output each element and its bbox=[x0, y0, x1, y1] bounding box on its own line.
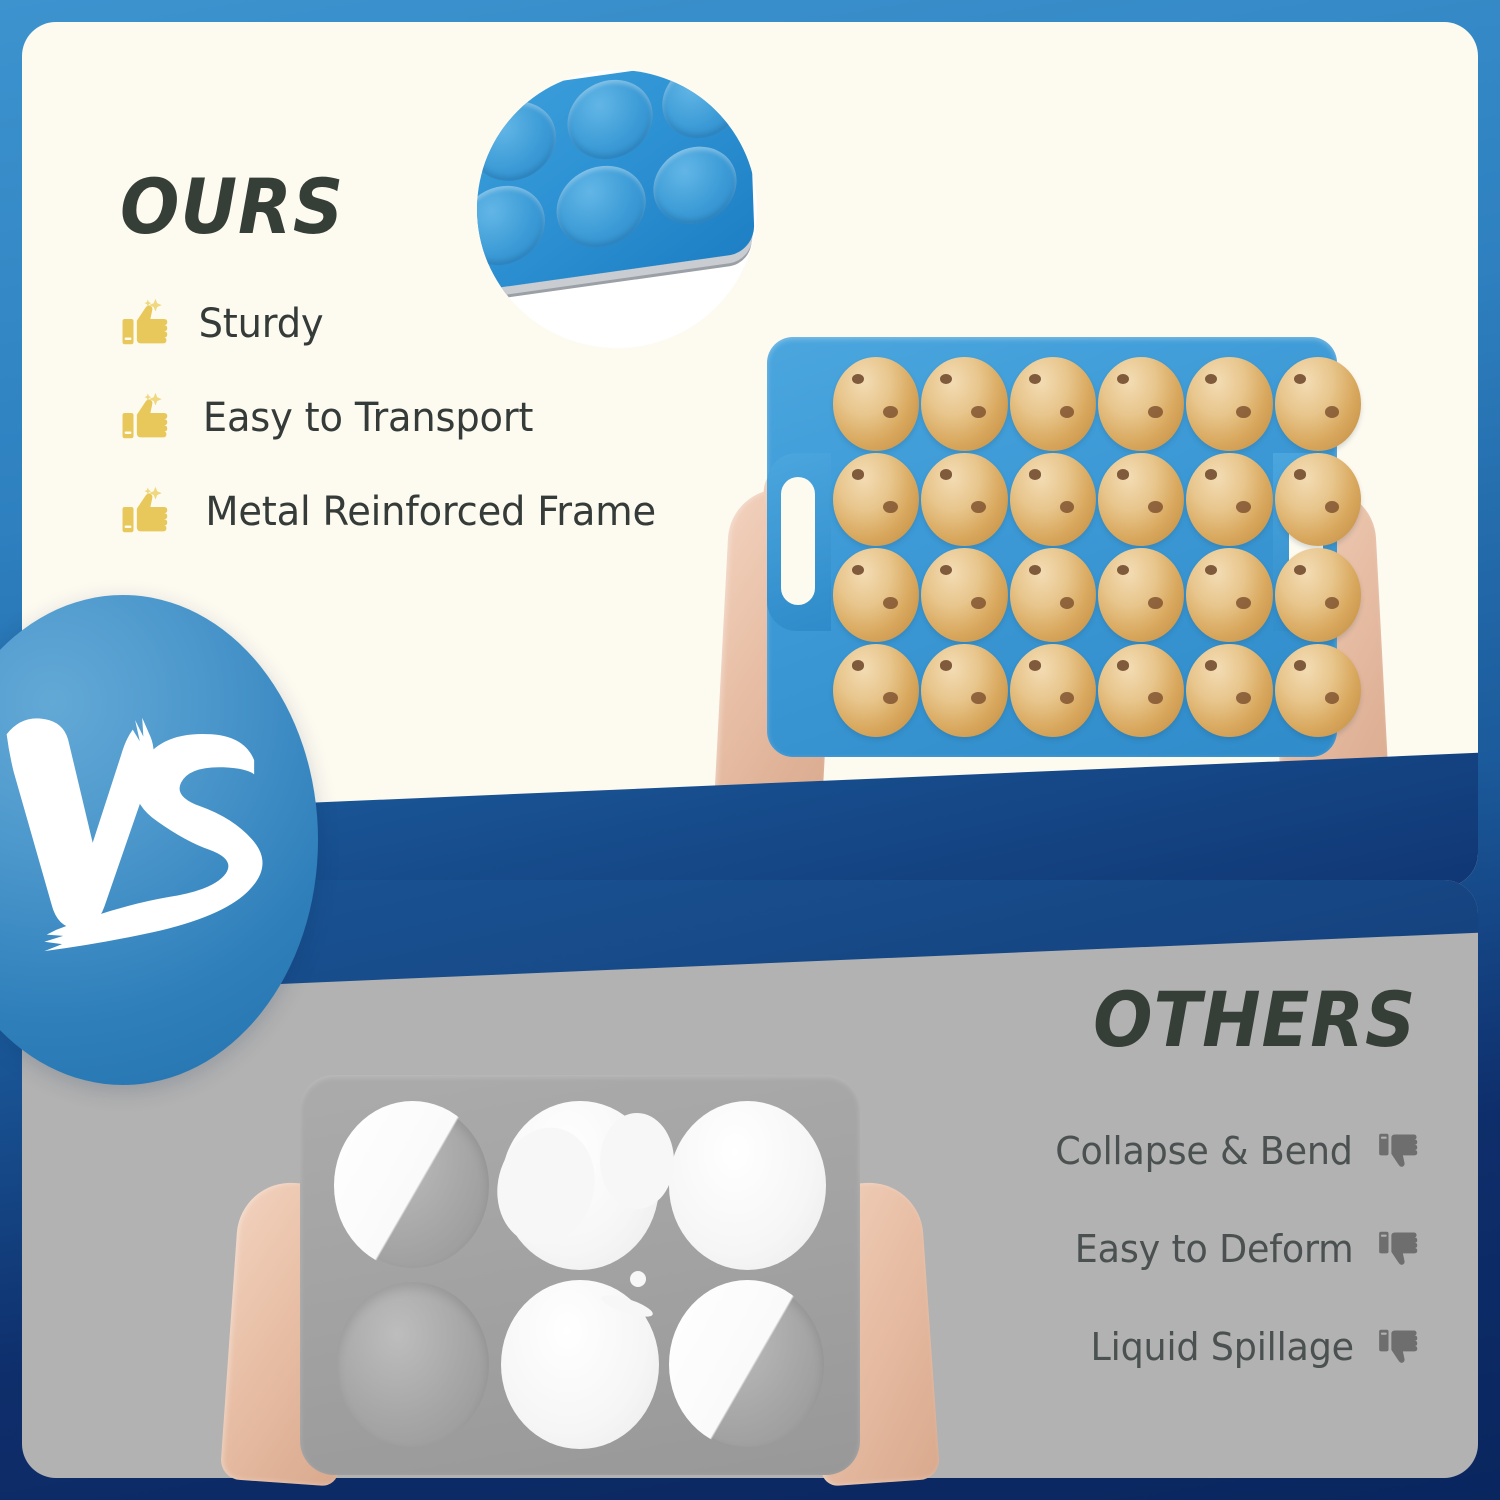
product-comparison-infographic: OURS Sturdy bbox=[0, 0, 1500, 1500]
pan-cup bbox=[671, 1103, 824, 1268]
ours-feature-item: Easy to Transport bbox=[120, 391, 540, 445]
others-feature-label: Collapse & Bend bbox=[1055, 1129, 1353, 1173]
thumbs-up-sparkle-icon bbox=[120, 297, 174, 351]
blue-muffin-pan-photo bbox=[722, 337, 1382, 807]
muffin bbox=[1186, 453, 1272, 547]
thumbs-up-sparkle-icon bbox=[120, 485, 174, 539]
others-feature-item: Collapse & Bend bbox=[1049, 1128, 1423, 1174]
muffin bbox=[1010, 453, 1096, 547]
muffin bbox=[1275, 644, 1361, 738]
muffin bbox=[921, 644, 1007, 738]
muffin bbox=[1098, 548, 1184, 642]
muffin bbox=[921, 548, 1007, 642]
muffin bbox=[833, 453, 919, 547]
batter-droplet bbox=[630, 1271, 646, 1287]
muffin bbox=[1098, 357, 1184, 451]
batter-spill bbox=[600, 1113, 674, 1209]
others-title: OTHERS bbox=[1093, 975, 1416, 1064]
muffin bbox=[921, 453, 1007, 547]
thumbs-down-icon bbox=[1377, 1324, 1423, 1370]
gray-muffin-pan-photo bbox=[230, 1075, 930, 1495]
ours-feature-item: Metal Reinforced Frame bbox=[120, 485, 665, 539]
inset-blue-pan bbox=[477, 70, 755, 293]
others-feature-item: Liquid Spillage bbox=[1085, 1324, 1423, 1370]
muffin bbox=[1010, 548, 1096, 642]
pan-cup bbox=[671, 1282, 824, 1447]
others-feature-label: Liquid Spillage bbox=[1090, 1325, 1353, 1369]
muffin-grid bbox=[833, 357, 1361, 737]
thumbs-up-sparkle-icon bbox=[120, 391, 174, 445]
blue-silicone-pan bbox=[767, 337, 1337, 757]
others-feature-label: Easy to Deform bbox=[1074, 1227, 1353, 1271]
muffin bbox=[1186, 644, 1272, 738]
thumbs-down-icon bbox=[1377, 1226, 1423, 1272]
ours-feature-item: Sturdy bbox=[120, 297, 326, 351]
pan-cup bbox=[336, 1282, 489, 1447]
thumbs-down-icon bbox=[1377, 1128, 1423, 1174]
others-feature-item: Easy to Deform bbox=[1069, 1226, 1423, 1272]
pan-handle-left bbox=[767, 453, 831, 631]
muffin bbox=[1275, 548, 1361, 642]
ours-feature-label: Metal Reinforced Frame bbox=[205, 489, 656, 535]
muffin bbox=[1186, 548, 1272, 642]
muffin bbox=[1098, 453, 1184, 547]
muffin bbox=[833, 548, 919, 642]
vs-brush-icon bbox=[0, 673, 296, 1008]
muffin bbox=[1275, 357, 1361, 451]
others-feature-list: Collapse & Bend Easy to Deform bbox=[1049, 1128, 1423, 1370]
muffin bbox=[1275, 453, 1361, 547]
muffin bbox=[1010, 644, 1096, 738]
ours-title: OURS bbox=[120, 162, 344, 251]
gray-silicone-pan bbox=[300, 1075, 860, 1475]
muffin bbox=[1186, 357, 1272, 451]
ours-feature-label: Sturdy bbox=[199, 301, 324, 347]
pan-cup bbox=[336, 1103, 489, 1268]
muffin bbox=[1098, 644, 1184, 738]
metal-frame-closeup-inset bbox=[477, 70, 757, 348]
ours-feature-label: Easy to Transport bbox=[203, 395, 533, 441]
muffin bbox=[1010, 357, 1096, 451]
muffin bbox=[833, 644, 919, 738]
muffin bbox=[921, 357, 1007, 451]
muffin bbox=[833, 357, 919, 451]
